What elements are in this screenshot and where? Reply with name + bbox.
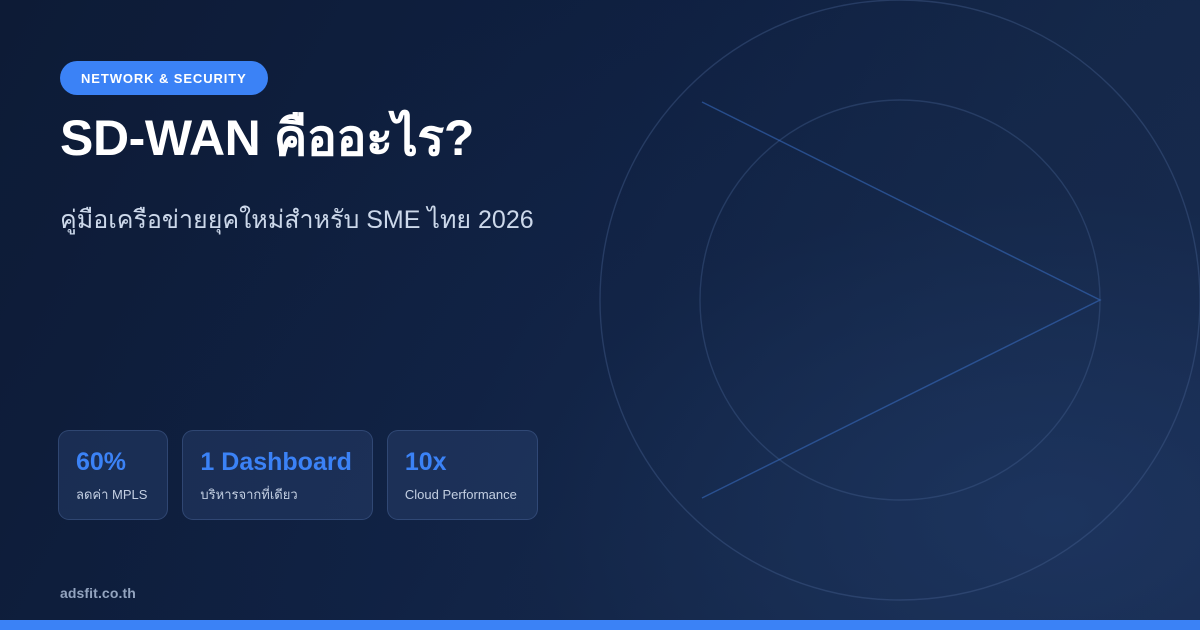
page-title: SD-WAN คืออะไร?	[60, 108, 474, 168]
stat-card: 60% ลดค่า MPLS	[58, 430, 168, 520]
bottom-accent-bar	[0, 620, 1200, 630]
stat-value: 10x	[405, 447, 517, 477]
stat-label: ลดค่า MPLS	[76, 486, 147, 503]
og-banner: NETWORK & SECURITY SD-WAN คืออะไร? คู่มื…	[0, 0, 1200, 630]
stat-card-list: 60% ลดค่า MPLS 1 Dashboard บริหารจากที่เ…	[58, 430, 538, 520]
stat-label: บริหารจากที่เดียว	[200, 486, 351, 503]
stat-value: 60%	[76, 447, 147, 477]
page-subtitle: คู่มือเครือข่ายยุคใหม่สำหรับ SME ไทย 202…	[60, 203, 534, 237]
stat-value: 1 Dashboard	[200, 447, 351, 477]
category-badge: NETWORK & SECURITY	[60, 61, 268, 95]
stat-card: 1 Dashboard บริหารจากที่เดียว	[182, 430, 372, 520]
outer-circle-icon	[600, 0, 1200, 600]
footer-site-url: adsfit.co.th	[60, 585, 136, 601]
stat-card: 10x Cloud Performance	[387, 430, 538, 520]
content-column: NETWORK & SECURITY SD-WAN คืออะไร? คู่มื…	[60, 0, 680, 630]
stat-label: Cloud Performance	[405, 486, 517, 503]
inner-circle-icon	[700, 100, 1100, 500]
chevron-arrow-icon	[702, 102, 1100, 498]
